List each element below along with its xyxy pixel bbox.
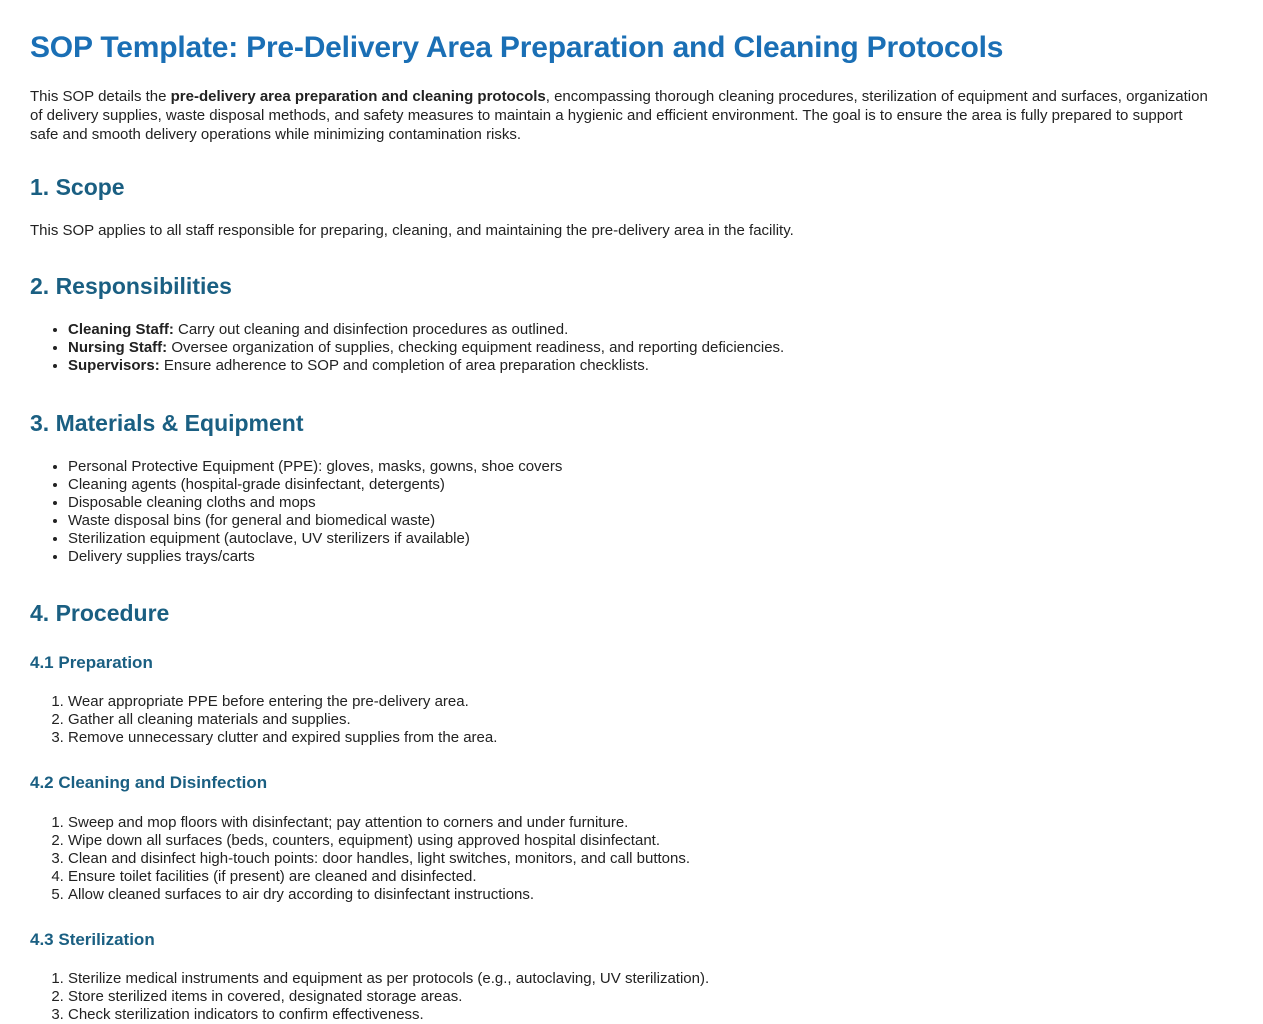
list-item: Sterilization equipment (autoclave, UV s… (68, 530, 1233, 548)
section-heading-materials: 3. Materials & Equipment (30, 375, 1233, 438)
list-item: Clean and disinfect high-touch points: d… (68, 850, 1233, 868)
scope-body: This SOP applies to all staff responsibl… (30, 221, 1233, 240)
list-item: Remove unnecessary clutter and expired s… (68, 729, 1233, 747)
responsibility-role: Nursing Staff: (68, 339, 167, 356)
list-item: Wear appropriate PPE before entering the… (68, 693, 1233, 711)
responsibility-detail: Carry out cleaning and disinfection proc… (174, 321, 568, 338)
list-item: Nursing Staff: Oversee organization of s… (68, 339, 1233, 357)
list-item: Check sterilization indicators to confir… (68, 1006, 1233, 1024)
preparation-steps-list: Wear appropriate PPE before entering the… (30, 673, 1233, 747)
list-item: Supervisors: Ensure adherence to SOP and… (68, 357, 1233, 375)
section-heading-procedure: 4. Procedure (30, 566, 1233, 628)
subsection-heading-sterilization: 4.3 Sterilization (30, 904, 1233, 950)
list-item: Cleaning Staff: Carry out cleaning and d… (68, 321, 1233, 339)
responsibilities-list: Cleaning Staff: Carry out cleaning and d… (30, 301, 1233, 375)
list-item: Gather all cleaning materials and suppli… (68, 711, 1233, 729)
list-item: Store sterilized items in covered, desig… (68, 988, 1233, 1006)
responsibility-detail: Oversee organization of supplies, checki… (167, 339, 784, 356)
subsection-heading-cleaning: 4.2 Cleaning and Disinfection (30, 747, 1233, 793)
list-item: Cleaning agents (hospital-grade disinfec… (68, 476, 1233, 494)
responsibility-role: Cleaning Staff: (68, 321, 174, 338)
section-heading-scope: 1. Scope (30, 144, 1233, 202)
intro-emphasis: pre-delivery area preparation and cleani… (171, 88, 546, 105)
list-item: Sterilize medical instruments and equipm… (68, 970, 1233, 988)
list-item: Sweep and mop floors with disinfectant; … (68, 814, 1233, 832)
list-item: Disposable cleaning cloths and mops (68, 494, 1233, 512)
section-heading-responsibilities: 2. Responsibilities (30, 240, 1233, 301)
list-item: Waste disposal bins (for general and bio… (68, 512, 1233, 530)
sterilization-steps-list: Sterilize medical instruments and equipm… (30, 950, 1233, 1024)
materials-list: Personal Protective Equipment (PPE): glo… (30, 437, 1233, 566)
responsibility-role: Supervisors: (68, 357, 160, 374)
document-page: SOP Template: Pre-Delivery Area Preparat… (0, 0, 1263, 1024)
list-item: Ensure toilet facilities (if present) ar… (68, 868, 1233, 886)
responsibility-detail: Ensure adherence to SOP and completion o… (160, 357, 649, 374)
list-item: Delivery supplies trays/carts (68, 548, 1233, 566)
list-item: Wipe down all surfaces (beds, counters, … (68, 832, 1233, 850)
list-item: Personal Protective Equipment (PPE): glo… (68, 458, 1233, 476)
list-item: Allow cleaned surfaces to air dry accord… (68, 886, 1233, 904)
page-title: SOP Template: Pre-Delivery Area Preparat… (30, 0, 1233, 66)
subsection-heading-preparation: 4.1 Preparation (30, 628, 1233, 673)
intro-paragraph: This SOP details the pre-delivery area p… (30, 87, 1215, 145)
intro-lead: This SOP details the (30, 88, 171, 105)
cleaning-steps-list: Sweep and mop floors with disinfectant; … (30, 794, 1233, 904)
